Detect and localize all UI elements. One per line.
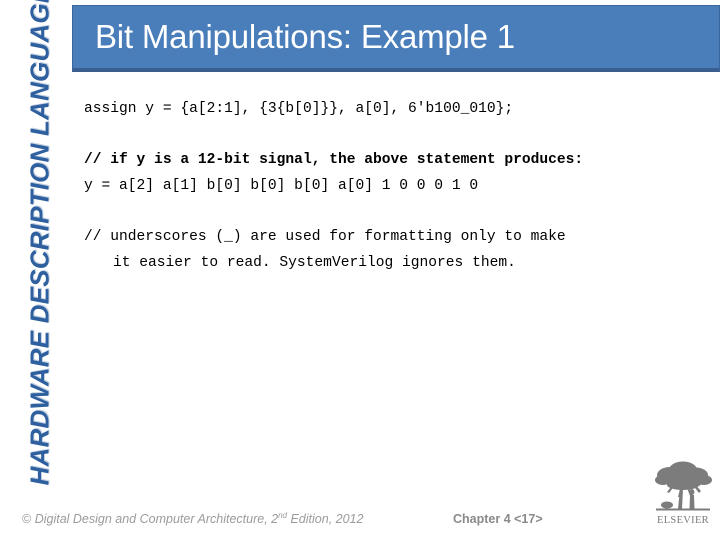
code-line: y = a[2] a[1] b[0] b[0] b[0] a[0] 1 0 0 … [84, 173, 712, 199]
code-line: assign y = {a[2:1], {3{b[0]}}, a[0], 6'b… [84, 96, 712, 122]
sidebar: HARDWARE DESCRIPTION LANGUAGES [0, 0, 72, 540]
copyright-tail: Edition, 2012 [287, 512, 363, 526]
code-line-comment: // underscores (_) are used for formatti… [84, 224, 712, 250]
copyright-title: Digital Design and Computer Architecture… [31, 512, 278, 526]
copyright-symbol: © [22, 512, 31, 526]
elsevier-tree-logo: ELSEVIER [650, 459, 716, 531]
slide-title: Bit Manipulations: Example 1 [95, 20, 515, 53]
code-spacer [84, 199, 712, 224]
sidebar-vertical-title: HARDWARE DESCRIPTION LANGUAGES [25, 6, 56, 486]
code-line-comment-continued: it easier to read. SystemVerilog ignores… [84, 250, 712, 276]
slide-canvas: HARDWARE DESCRIPTION LANGUAGES Bit Manip… [0, 0, 720, 540]
footer-chapter-slide-number: Chapter 4 <17> [453, 512, 543, 526]
code-body: assign y = {a[2:1], {3{b[0]}}, a[0], 6'b… [84, 96, 712, 276]
slide-title-band: Bit Manipulations: Example 1 [72, 5, 720, 72]
footer-copyright: © Digital Design and Computer Architectu… [22, 511, 363, 526]
code-spacer [84, 122, 712, 147]
code-line-comment: // if y is a 12-bit signal, the above st… [84, 147, 712, 173]
elsevier-wordmark: ELSEVIER [650, 515, 716, 526]
copyright-ordinal-suffix: nd [278, 511, 287, 520]
